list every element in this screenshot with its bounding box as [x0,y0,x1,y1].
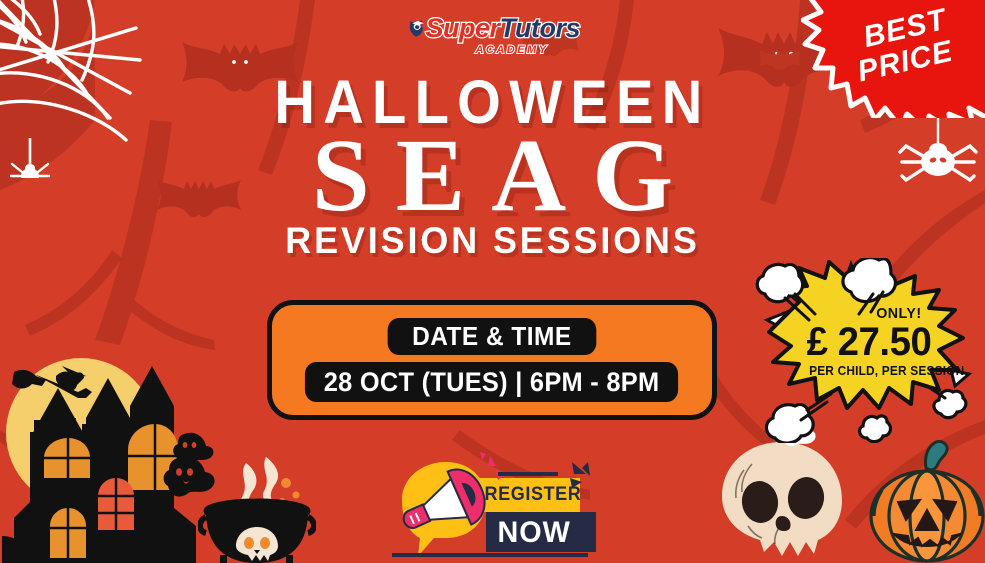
brand-logo[interactable]: Super Tutors ACADEMY [408,8,580,70]
register-now-cta[interactable]: REGISTER NOW [398,452,588,560]
date-time-label: DATE & TIME [388,318,596,355]
cta-underline [392,550,588,560]
headline-revision-sessions: REVISION SESSIONS [15,222,970,259]
logo-brand-part2: Tutors [499,13,580,44]
graduation-cap-shield-icon [408,8,425,48]
halloween-promo-poster: Super Tutors ACADEMY BEST PRICE HALLOWEE… [0,0,985,563]
cta-accent-lines-icon [498,460,593,490]
megaphone-icon [398,452,508,560]
cauldron-icon [198,455,316,563]
cta-now-label: NOW [498,516,571,550]
logo-brand-part1: Super [425,13,499,44]
price-amount: £ 27.50 [807,320,932,365]
date-time-card: DATE & TIME 28 OCT (TUES) | 6PM - 8PM [267,300,717,420]
price-text-group: ONLY! £ 27.50 PER CHILD, PER SESSION [755,258,985,443]
headline-group: HALLOWEEN SEAG REVISION SESSIONS [0,74,985,259]
headline-halloween: HALLOWEEN [39,74,945,132]
logo-subtitle: ACADEMY [408,44,580,56]
jack-o-lantern-icon [868,440,985,563]
date-time-value: 28 OCT (TUES) | 6PM - 8PM [305,362,678,402]
price-burst: ONLY! £ 27.50 PER CHILD, PER SESSION [755,258,985,443]
skull-icon [718,440,846,563]
bat-icon [758,50,802,74]
price-unit-label: PER CHILD, PER SESSION [809,364,964,378]
headline-seag: SEAG [26,128,985,224]
